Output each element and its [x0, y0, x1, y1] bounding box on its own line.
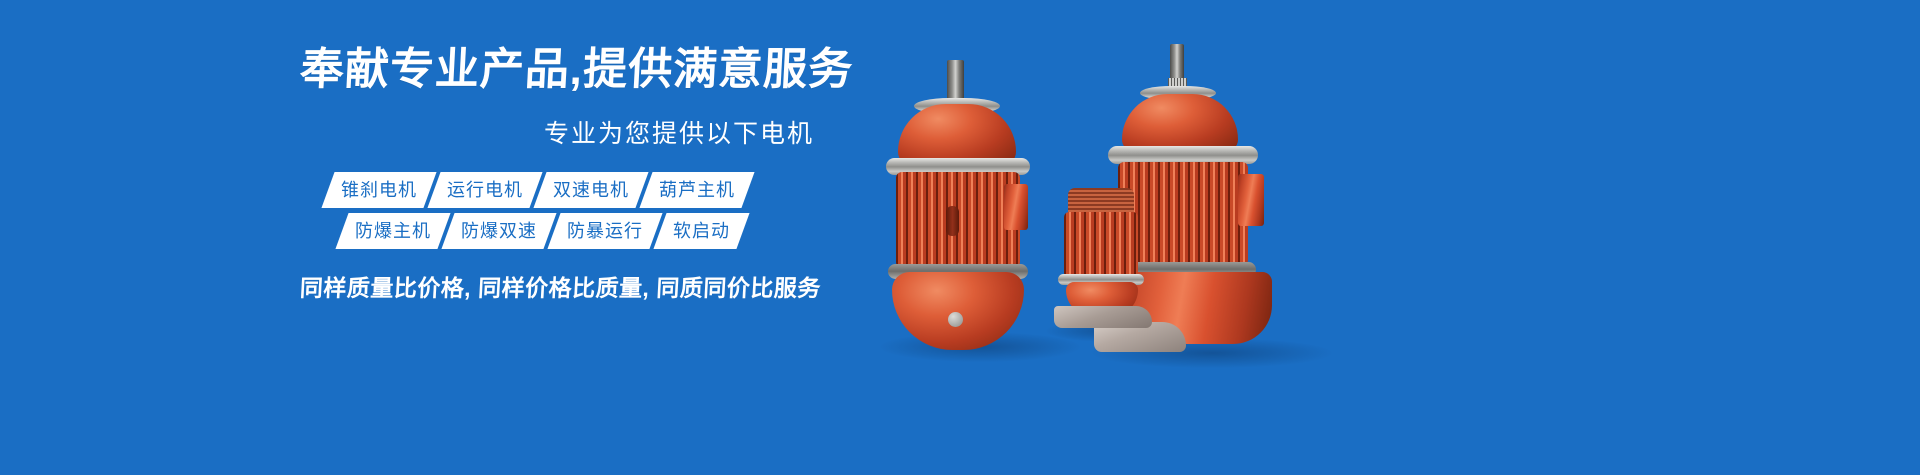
banner-tagline: 同样质量比价格, 同样价格比质量, 同质同价比服务 [299, 269, 821, 303]
product-tag-explosion-proof-running[interactable]: 防暴运行 [547, 213, 662, 249]
promo-banner: 奉献专业产品,提供满意服务 专业为您提供以下电机 锥刹电机 运行电机 双速电机 … [0, 0, 1920, 475]
product-tag-running-motor[interactable]: 运行电机 [427, 172, 542, 208]
banner-subtitle: 专业为您提供以下电机 [300, 114, 820, 150]
banner-text-block: 奉献专业产品,提供满意服务 专业为您提供以下电机 锥刹电机 运行电机 双速电机 … [300, 48, 820, 338]
product-tag-rows: 锥刹电机 运行电机 双速电机 葫芦主机 防爆主机 防爆双速 [328, 172, 798, 249]
product-tag-label: 运行电机 [447, 172, 523, 208]
banner-headline: 奉献专业产品,提供满意服务 [299, 48, 821, 92]
motor-bell-housing [892, 272, 1024, 350]
product-tag-label: 防暴运行 [567, 213, 643, 249]
small-motor-front [1050, 188, 1158, 330]
motor-cooling-fins [1064, 212, 1138, 278]
motor-dome-housing [898, 104, 1016, 166]
motor-conduit [946, 206, 959, 236]
product-tag-label: 防爆双速 [461, 213, 537, 249]
product-tag-explosion-proof-main[interactable]: 防爆主机 [335, 213, 450, 249]
product-tag-dual-speed-motor[interactable]: 双速电机 [533, 172, 648, 208]
motor-shaft [947, 60, 964, 102]
product-tag-label: 防爆主机 [355, 213, 431, 249]
product-tag-hoist-main-motor[interactable]: 葫芦主机 [639, 172, 754, 208]
product-tag-row-1: 锥刹电机 运行电机 双速电机 葫芦主机 [328, 172, 798, 208]
motor-adjuster-knob [948, 312, 963, 327]
product-tag-explosion-proof-dual-speed[interactable]: 防爆双速 [441, 213, 556, 249]
cone-brake-motor-large [880, 60, 1070, 350]
product-tag-cone-brake-motor[interactable]: 锥刹电机 [321, 172, 436, 208]
motor-fan-grill [1068, 188, 1134, 214]
product-tag-label: 双速电机 [553, 172, 629, 208]
product-tag-row-2: 防爆主机 防爆双速 防暴运行 软启动 [328, 213, 798, 249]
product-tag-label: 锥刹电机 [341, 172, 417, 208]
motor-dome-housing [1122, 94, 1238, 152]
product-tag-soft-start[interactable]: 软启动 [653, 213, 749, 249]
product-tag-label: 葫芦主机 [659, 172, 735, 208]
motor-mounting-foot [1054, 306, 1152, 328]
product-tag-label: 软启动 [673, 213, 730, 249]
motor-terminal-box [1238, 174, 1264, 226]
electric-motors-photo [860, 20, 1420, 360]
motor-terminal-box [1004, 184, 1028, 230]
